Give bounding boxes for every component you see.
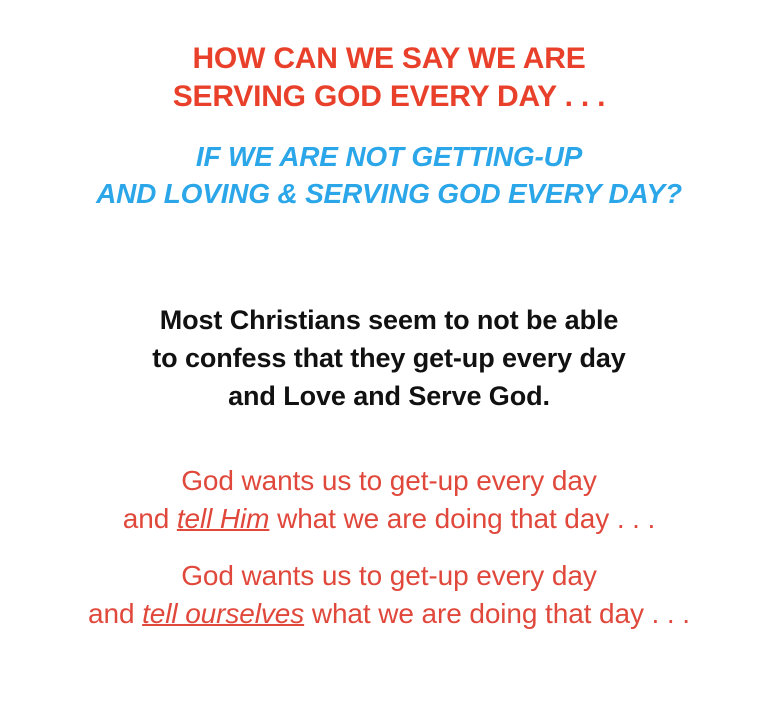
statement-black-line-1: Most Christians seem to not be able bbox=[0, 301, 778, 339]
couplet-tell-him: God wants us to get-up every day and tel… bbox=[0, 462, 778, 538]
couplet-tell-ourselves-prefix: and bbox=[88, 598, 142, 629]
subheading-blue-line-2: AND LOVING & SERVING GOD EVERY DAY? bbox=[0, 175, 778, 212]
couplet-tell-ourselves-suffix: what we are doing that day . . . bbox=[304, 598, 690, 629]
couplet-tell-him-emphasis: tell Him bbox=[177, 503, 270, 534]
heading-red-line-1: HOW CAN WE SAY WE ARE bbox=[0, 40, 778, 78]
couplet-tell-ourselves: God wants us to get-up every day and tel… bbox=[0, 557, 778, 633]
heading-red-line-2: SERVING GOD EVERY DAY . . . bbox=[0, 78, 778, 116]
statement-black: Most Christians seem to not be able to c… bbox=[0, 301, 778, 415]
couplet-tell-him-suffix: what we are doing that day . . . bbox=[269, 503, 655, 534]
subheading-blue-line-1: IF WE ARE NOT GETTING-UP bbox=[0, 138, 778, 175]
slide-canvas: HOW CAN WE SAY WE ARE SERVING GOD EVERY … bbox=[0, 0, 778, 703]
couplet-tell-him-prefix: and bbox=[123, 503, 177, 534]
couplet-tell-ourselves-line-1: God wants us to get-up every day bbox=[0, 557, 778, 595]
couplet-tell-ourselves-emphasis: tell ourselves bbox=[142, 598, 304, 629]
couplet-tell-ourselves-line-2: and tell ourselves what we are doing tha… bbox=[0, 595, 778, 633]
couplet-tell-him-line-2: and tell Him what we are doing that day … bbox=[0, 500, 778, 538]
couplet-tell-him-line-1: God wants us to get-up every day bbox=[0, 462, 778, 500]
subheading-blue: IF WE ARE NOT GETTING-UP AND LOVING & SE… bbox=[0, 138, 778, 212]
heading-red: HOW CAN WE SAY WE ARE SERVING GOD EVERY … bbox=[0, 40, 778, 116]
statement-black-line-2: to confess that they get-up every day bbox=[0, 339, 778, 377]
statement-black-line-3: and Love and Serve God. bbox=[0, 377, 778, 415]
